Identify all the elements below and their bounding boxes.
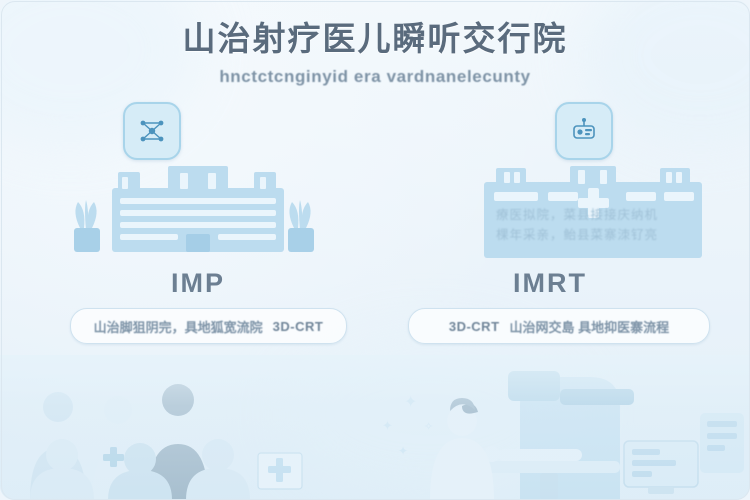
hospital-building-icon bbox=[58, 166, 338, 276]
panel-right-pill: 3D-CRT 山治网交島 具地抑医寨流程 bbox=[408, 308, 710, 344]
header: 山治射疗医儿瞬听交行院 hnctctcnginyid era vardnanel… bbox=[0, 18, 750, 87]
medical-device-icon bbox=[555, 102, 613, 160]
left-people-group bbox=[30, 384, 302, 500]
control-monitor bbox=[624, 441, 698, 494]
panel-left-pill: 山治脚狙阴完，具地狐宽流院 3D-CRT bbox=[70, 308, 347, 344]
panel-left-pill-text: 山治脚狙阴完，具地狐宽流院 bbox=[94, 317, 263, 336]
panel-left-label: IMP bbox=[48, 268, 348, 299]
equipment-panel bbox=[700, 413, 744, 473]
bottom-silhouette-scene bbox=[0, 355, 750, 500]
panel-right-pill-text: 山治网交島 具地抑医寨流程 bbox=[510, 317, 670, 336]
panel-left: IMP 山治脚狙阴完，具地狐宽流院 3D-CRT bbox=[48, 96, 348, 366]
illustration-root: 山治射疗医儿瞬听交行院 hnctctcnginyid era vardnanel… bbox=[0, 0, 750, 500]
illustration-card: 山治射疗医儿瞬听交行院 hnctctcnginyid era vardnanel… bbox=[0, 0, 750, 500]
technician-at-console bbox=[430, 398, 494, 500]
panel-right-label: IMRT bbox=[400, 268, 700, 299]
page-subtitle: hnctctcnginyid era vardnanelecunty bbox=[0, 67, 750, 87]
building-caption-line-2: 棵年采亲，鲐县菜寨洓钌亮 bbox=[486, 225, 668, 245]
panel-left-pill-tag: 3D-CRT bbox=[273, 319, 324, 334]
panel-right-pill-tag: 3D-CRT bbox=[449, 319, 500, 334]
linear-accelerator-machine bbox=[470, 371, 634, 500]
building-caption: 療医拟院，菜县接接庆纳机 棵年采亲，鲐县菜寨洓钌亮 bbox=[486, 205, 668, 245]
page-title: 山治射疗医儿瞬听交行院 bbox=[0, 18, 750, 59]
molecule-network-icon bbox=[123, 102, 181, 160]
building-caption-line-1: 療医拟院，菜县接接庆纳机 bbox=[486, 205, 668, 225]
